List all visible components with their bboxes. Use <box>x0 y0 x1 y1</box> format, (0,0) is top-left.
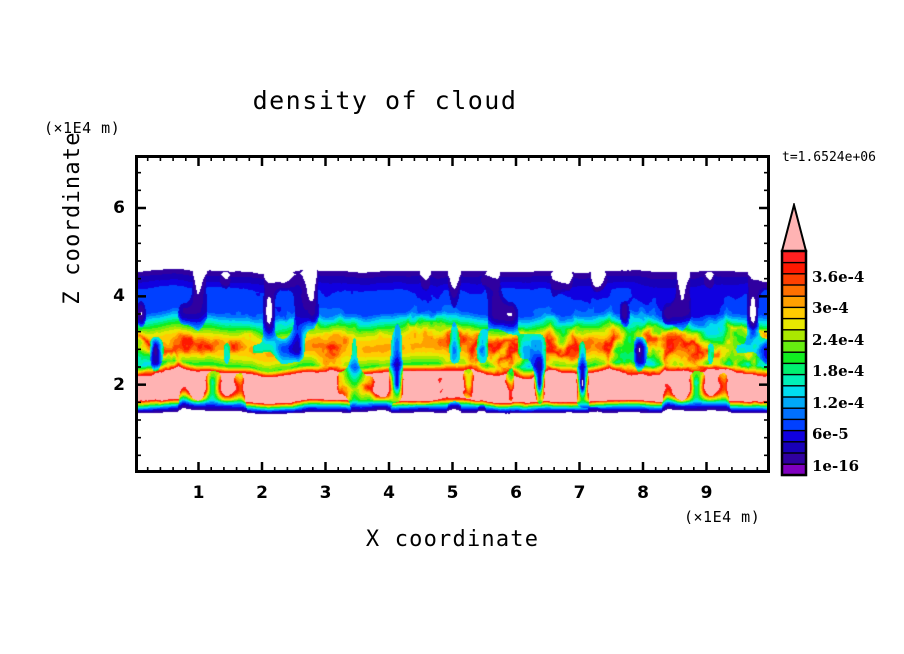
colorbar-band <box>782 385 806 397</box>
colorbar-band <box>782 318 806 330</box>
colorbar-band <box>782 441 806 453</box>
page-title: density of cloud <box>0 86 770 115</box>
figure-canvas: density of cloud (×1E4 m) (×1E4 m) X coo… <box>0 0 904 654</box>
colorbar-band <box>782 374 806 386</box>
colorbar-tick-label: 3.6e-4 <box>812 268 864 286</box>
x-tick-label: 6 <box>510 483 522 503</box>
x-tick-label: 8 <box>637 483 649 503</box>
colorbar-band <box>782 273 806 285</box>
time-annotation: t=1.6524e+06 <box>782 150 876 165</box>
colorbar-band <box>782 453 806 465</box>
x-tick-label: 9 <box>701 483 713 503</box>
colorbar-tick-label: 1.2e-4 <box>812 394 864 412</box>
colorbar-overflow-cap <box>782 205 806 251</box>
plot-area <box>135 155 770 473</box>
colorbar-tick-label: 2.4e-4 <box>812 331 864 349</box>
x-axis-unit-label: (×1E4 m) <box>684 508 760 526</box>
colorbar-tick-label: 1.8e-4 <box>812 362 864 380</box>
x-tick-label: 4 <box>383 483 395 503</box>
colorbar <box>780 203 808 477</box>
x-tick-label: 1 <box>193 483 205 503</box>
colorbar-band <box>782 363 806 375</box>
colorbar-band <box>782 408 806 420</box>
colorbar-band <box>782 285 806 297</box>
x-axis-title: X coordinate <box>135 527 770 552</box>
colorbar-band <box>782 341 806 353</box>
colorbar-band <box>782 329 806 341</box>
y-tick-label: 6 <box>103 198 125 218</box>
colorbar-band <box>782 464 806 476</box>
x-tick-label: 3 <box>320 483 332 503</box>
colorbar-band <box>782 430 806 442</box>
colorbar-tick-label: 6e-5 <box>812 425 849 443</box>
y-tick-label: 4 <box>103 286 125 306</box>
colorbar-band <box>782 262 806 274</box>
x-tick-label: 7 <box>574 483 586 503</box>
x-tick-label: 5 <box>447 483 459 503</box>
colorbar-band <box>782 352 806 364</box>
colorbar-band <box>782 419 806 431</box>
colorbar-band <box>782 251 806 263</box>
y-tick-label: 2 <box>103 375 125 395</box>
y-axis-title: Z coordinate <box>60 118 85 318</box>
contour-field <box>138 158 767 470</box>
colorbar-band <box>782 307 806 319</box>
x-tick-label: 2 <box>256 483 268 503</box>
colorbar-band <box>782 296 806 308</box>
colorbar-tick-label: 3e-4 <box>812 299 849 317</box>
colorbar-band <box>782 397 806 409</box>
colorbar-tick-label: 1e-16 <box>812 457 859 475</box>
